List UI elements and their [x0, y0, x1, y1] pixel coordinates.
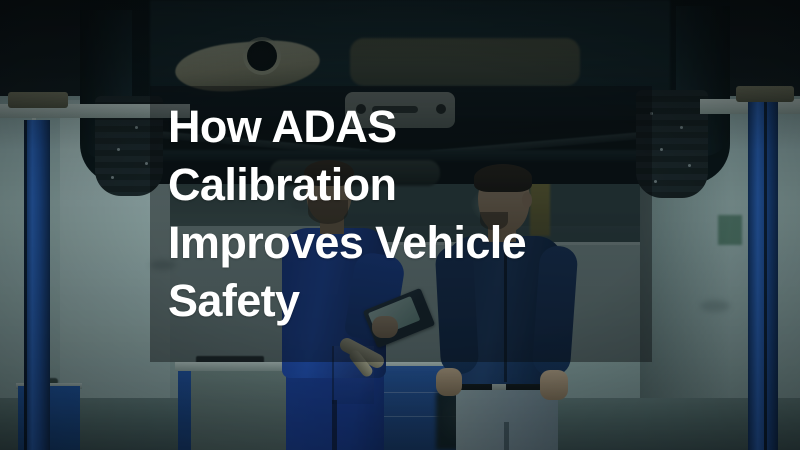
page-title: How ADAS Calibration Improves Vehicle Sa…: [168, 98, 688, 330]
hero-image: How ADAS Calibration Improves Vehicle Sa…: [0, 0, 800, 450]
